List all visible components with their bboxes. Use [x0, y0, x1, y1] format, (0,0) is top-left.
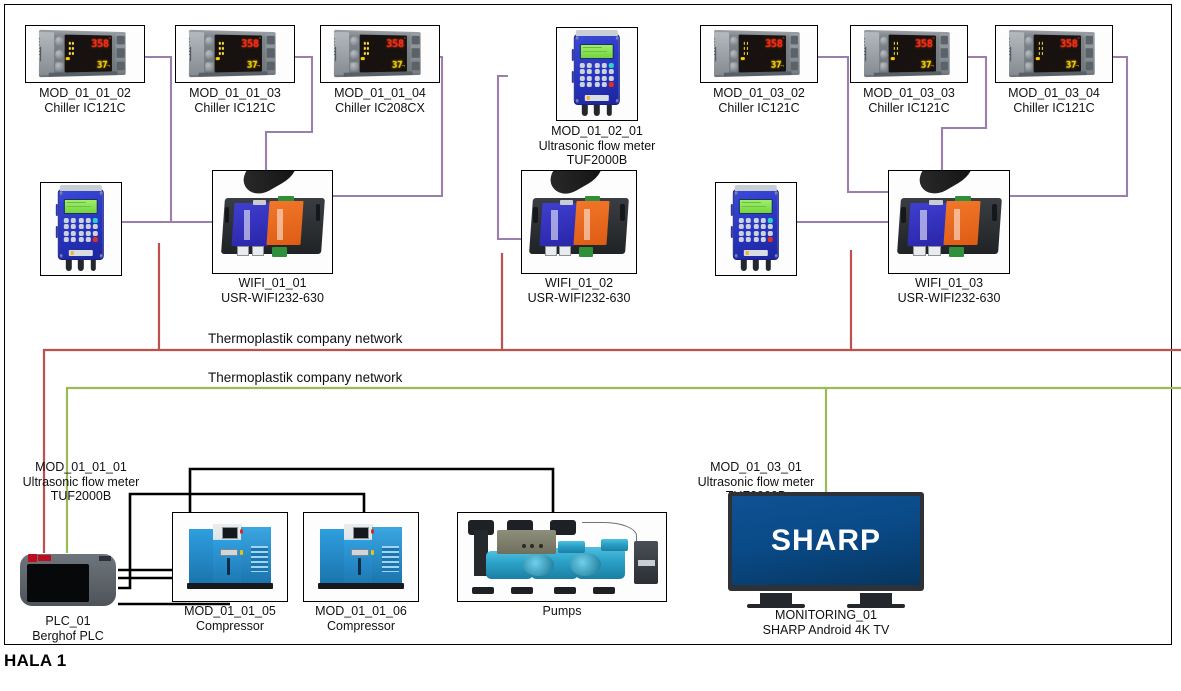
wifi-module-icon	[223, 185, 323, 258]
chiller-unit-icon: ¬	[402, 64, 405, 70]
chiller-unit-icon: ¬	[257, 64, 260, 70]
device-frame	[888, 170, 1010, 274]
wifi-module-icon	[531, 185, 627, 258]
chiller-controller-icon: 358 ° 37 ¬	[183, 31, 287, 76]
node-compressor-01-01-05[interactable]: MOD_01_01_05 Compressor	[172, 512, 288, 602]
device-frame	[212, 170, 333, 274]
node-type: Compressor	[196, 619, 264, 633]
tv-icon: SHARP	[726, 490, 926, 610]
chiller-degree-icon: °	[259, 37, 261, 43]
chiller-controller-icon: 358 ° 37 ¬	[328, 31, 432, 76]
sharp-logo: SHARP	[771, 524, 881, 558]
node-flowmeter-01-02-01[interactable]: MOD_01_02_01 Ultrasonic flow meter TUF20…	[556, 27, 638, 121]
node-caption: WIFI_01_03 USR-WIFI232-630	[898, 276, 1001, 305]
plc-screen	[27, 564, 89, 602]
node-type: Ultrasonic flow meter	[698, 475, 815, 489]
ultrasonic-flowmeter-icon	[58, 189, 104, 261]
node-plc-01[interactable]: PLC_01 Berghof PLC	[18, 550, 118, 612]
chiller-unit-icon: ¬	[1076, 64, 1079, 70]
node-type: Berghof PLC	[32, 629, 104, 643]
node-type: Ultrasonic flow meter	[23, 475, 140, 489]
ultrasonic-flowmeter-icon	[733, 189, 779, 261]
node-id: MOD_01_03_02	[713, 86, 805, 100]
node-chiller-01-01-03[interactable]: 358 ° 37 ¬ MOD_01_01_03 Chiller IC121C	[175, 25, 295, 83]
node-monitoring-01[interactable]: SHARP MONITORING_01 SHARP Android 4K TV	[726, 490, 926, 610]
device-frame	[172, 512, 288, 602]
node-type: Chiller IC121C	[194, 101, 275, 115]
plc-icon	[18, 550, 118, 612]
chiller-controller-icon: 358 ° 37 ¬	[33, 31, 137, 76]
node-caption: MOD_01_02_01 Ultrasonic flow meter TUF20…	[539, 124, 656, 168]
chiller-degree-icon: °	[1078, 37, 1080, 43]
node-caption: MOD_01_03_04 Chiller IC121C	[1008, 86, 1100, 115]
node-caption: MOD_01_01_06 Compressor	[315, 604, 407, 633]
chiller-controller-icon: 358 ° 37 ¬	[1003, 31, 1105, 76]
diagram-canvas: Thermoplastik company network Thermoplas…	[0, 0, 1181, 691]
chiller-degree-icon: °	[404, 37, 406, 43]
node-id: WIFI_01_02	[545, 276, 613, 290]
berghof-logo-icon	[28, 554, 37, 561]
node-caption: PLC_01 Berghof PLC	[32, 614, 104, 643]
node-id: MOD_01_01_03	[189, 86, 281, 100]
node-id: MOD_01_03_04	[1008, 86, 1100, 100]
hall-label: HALA 1	[4, 651, 67, 671]
device-frame: 358 ° 37 ¬	[320, 25, 440, 83]
node-id: MOD_01_01_01	[35, 460, 127, 474]
node-id: MOD_01_01_02	[39, 86, 131, 100]
node-wifi-01-03[interactable]: WIFI_01_03 USR-WIFI232-630	[888, 170, 1010, 274]
node-type: Compressor	[327, 619, 395, 633]
node-id: MOD_01_01_05	[184, 604, 276, 618]
chiller-unit-icon: ¬	[931, 64, 934, 70]
chiller-unit-icon: ¬	[107, 64, 110, 70]
chiller-display-primary: 358	[915, 37, 933, 50]
compressor-icon	[320, 524, 402, 587]
node-caption: MOD_01_03_02 Chiller IC121C	[713, 86, 805, 115]
node-id: MOD_01_01_06	[315, 604, 407, 618]
node-type: Chiller IC121C	[1013, 101, 1094, 115]
node-type: SHARP Android 4K TV	[763, 623, 890, 637]
device-frame	[303, 512, 419, 602]
node-model: TUF2000B	[567, 153, 627, 167]
chiller-display-primary: 358	[241, 37, 259, 50]
node-chiller-01-01-02[interactable]: 358 ° 37 ¬ MOD_01_01_02 Chiller IC121C	[25, 25, 145, 83]
chiller-controller-icon: 358 ° 37 ¬	[708, 31, 810, 76]
device-frame: 358 ° 37 ¬	[700, 25, 818, 83]
node-id: Pumps	[543, 604, 582, 618]
device-frame: 358 ° 37 ¬	[25, 25, 145, 83]
node-type: Chiller IC208CX	[335, 101, 425, 115]
chiller-display-primary: 358	[91, 37, 109, 50]
node-type: USR-WIFI232-630	[221, 291, 324, 305]
node-caption: WIFI_01_01 USR-WIFI232-630	[221, 276, 324, 305]
compressor-icon	[189, 524, 271, 587]
network-label-lower: Thermoplastik company network	[208, 370, 402, 385]
node-type: Chiller IC121C	[718, 101, 799, 115]
node-id: WIFI_01_03	[915, 276, 983, 290]
network-label-upper: Thermoplastik company network	[208, 331, 402, 346]
device-frame	[715, 182, 797, 276]
node-type: USR-WIFI232-630	[528, 291, 631, 305]
tv-screen: SHARP	[732, 496, 920, 584]
node-flowmeter-01-01-01[interactable]: MOD_01_01_01 Ultrasonic flow meter TUF20…	[40, 182, 122, 276]
chiller-unit-icon: ¬	[781, 64, 784, 70]
chiller-degree-icon: °	[933, 37, 935, 43]
device-frame: 358 ° 37 ¬	[995, 25, 1113, 83]
node-chiller-01-03-03[interactable]: 358 ° 37 ¬ MOD_01_03_03 Chiller IC121C	[850, 25, 968, 83]
node-caption: MOD_01_01_02 Chiller IC121C	[39, 86, 131, 115]
chiller-display-primary: 358	[1060, 37, 1078, 50]
chiller-controller-icon: 358 ° 37 ¬	[858, 31, 960, 76]
device-frame	[457, 512, 667, 602]
node-id: MOD_01_02_01	[551, 124, 643, 138]
berghof-wordmark-icon	[38, 555, 51, 561]
node-chiller-01-03-02[interactable]: 358 ° 37 ¬ MOD_01_03_02 Chiller IC121C	[700, 25, 818, 83]
pumps-icon	[464, 520, 660, 594]
node-caption: MOD_01_01_04 Chiller IC208CX	[334, 86, 426, 115]
node-caption: WIFI_01_02 USR-WIFI232-630	[528, 276, 631, 305]
node-type: Chiller IC121C	[868, 101, 949, 115]
node-model: TUF2000B	[51, 489, 111, 503]
node-id: MOD_01_01_04	[334, 86, 426, 100]
wifi-module-icon	[899, 185, 1000, 258]
chiller-degree-icon: °	[783, 37, 785, 43]
node-chiller-01-03-04[interactable]: 358 ° 37 ¬ MOD_01_03_04 Chiller IC121C	[995, 25, 1113, 83]
node-id: WIFI_01_01	[238, 276, 306, 290]
device-frame	[521, 170, 637, 274]
device-frame: 358 ° 37 ¬	[850, 25, 968, 83]
node-id: MOD_01_03_01	[710, 460, 802, 474]
node-caption: MONITORING_01 SHARP Android 4K TV	[763, 608, 890, 637]
node-id: PLC_01	[45, 614, 90, 628]
node-caption: MOD_01_01_05 Compressor	[184, 604, 276, 633]
node-type: Chiller IC121C	[44, 101, 125, 115]
device-frame	[40, 182, 122, 276]
node-pumps[interactable]: Pumps	[457, 512, 667, 602]
node-type: USR-WIFI232-630	[898, 291, 1001, 305]
node-caption: MOD_01_01_03 Chiller IC121C	[189, 86, 281, 115]
device-frame	[556, 27, 638, 121]
chiller-degree-icon: °	[109, 37, 111, 43]
node-caption: MOD_01_01_01 Ultrasonic flow meter TUF20…	[23, 460, 140, 504]
chiller-display-primary: 358	[386, 37, 404, 50]
node-caption: Pumps	[543, 604, 582, 619]
node-chiller-01-01-04[interactable]: 358 ° 37 ¬ MOD_01_01_04 Chiller IC208CX	[320, 25, 440, 83]
node-compressor-01-01-06[interactable]: MOD_01_01_06 Compressor	[303, 512, 419, 602]
device-frame: 358 ° 37 ¬	[175, 25, 295, 83]
node-wifi-01-01[interactable]: WIFI_01_01 USR-WIFI232-630	[212, 170, 333, 274]
node-type: Ultrasonic flow meter	[539, 139, 656, 153]
node-id: MONITORING_01	[775, 608, 877, 622]
ultrasonic-flowmeter-icon	[574, 34, 620, 106]
chiller-display-primary: 358	[765, 37, 783, 50]
node-flowmeter-01-03-01[interactable]: MOD_01_03_01 Ultrasonic flow meter TUF20…	[715, 182, 797, 276]
node-id: MOD_01_03_03	[863, 86, 955, 100]
node-wifi-01-02[interactable]: WIFI_01_02 USR-WIFI232-630	[521, 170, 637, 274]
node-caption: MOD_01_03_03 Chiller IC121C	[863, 86, 955, 115]
